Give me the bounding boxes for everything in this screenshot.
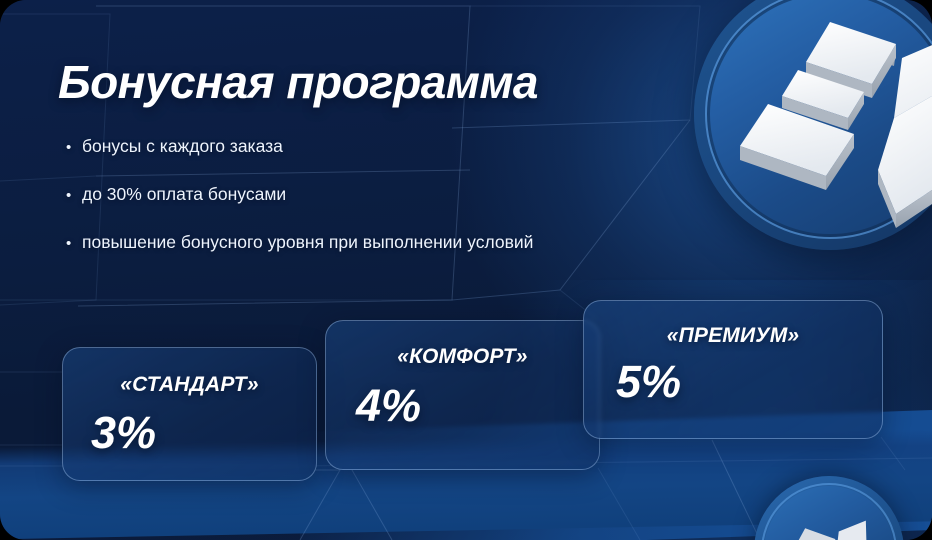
list-item: • повышение бонусного уровня при выполне… xyxy=(66,232,786,254)
tier-value-label: 5% xyxy=(616,359,681,404)
tier-name-label: «ПРЕМИУМ» xyxy=(584,324,882,348)
tier-card-premium: «ПРЕМИУМ» 5% xyxy=(583,300,883,439)
tier-name-label: «СТАНДАРТ» xyxy=(63,373,316,397)
page-title: Бонусная программа xyxy=(58,55,538,109)
bullet-dot-icon: • xyxy=(66,139,82,158)
list-item: • бонусы с каждого заказа xyxy=(66,136,786,158)
tier-card-standard: «СТАНДАРТ» 3% xyxy=(62,347,317,481)
list-item-label: повышение бонусного уровня при выполнени… xyxy=(82,232,533,254)
tier-name-label: «КОМФОРТ» xyxy=(326,345,599,369)
bonus-program-banner: Бонусная программа • бонусы с каждого за… xyxy=(0,0,932,540)
tier-value-label: 3% xyxy=(91,410,156,455)
list-item-label: до 30% оплата бонусами xyxy=(82,184,286,206)
list-item: • до 30% оплата бонусами xyxy=(66,184,786,206)
benefits-list: • бонусы с каждого заказа • до 30% оплат… xyxy=(66,136,786,280)
tier-value-label: 4% xyxy=(356,383,421,428)
bullet-dot-icon: • xyxy=(66,187,82,206)
bullet-dot-icon: • xyxy=(66,235,82,254)
list-item-label: бонусы с каждого заказа xyxy=(82,136,283,158)
tier-card-comfort: «КОМФОРТ» 4% xyxy=(325,320,600,470)
